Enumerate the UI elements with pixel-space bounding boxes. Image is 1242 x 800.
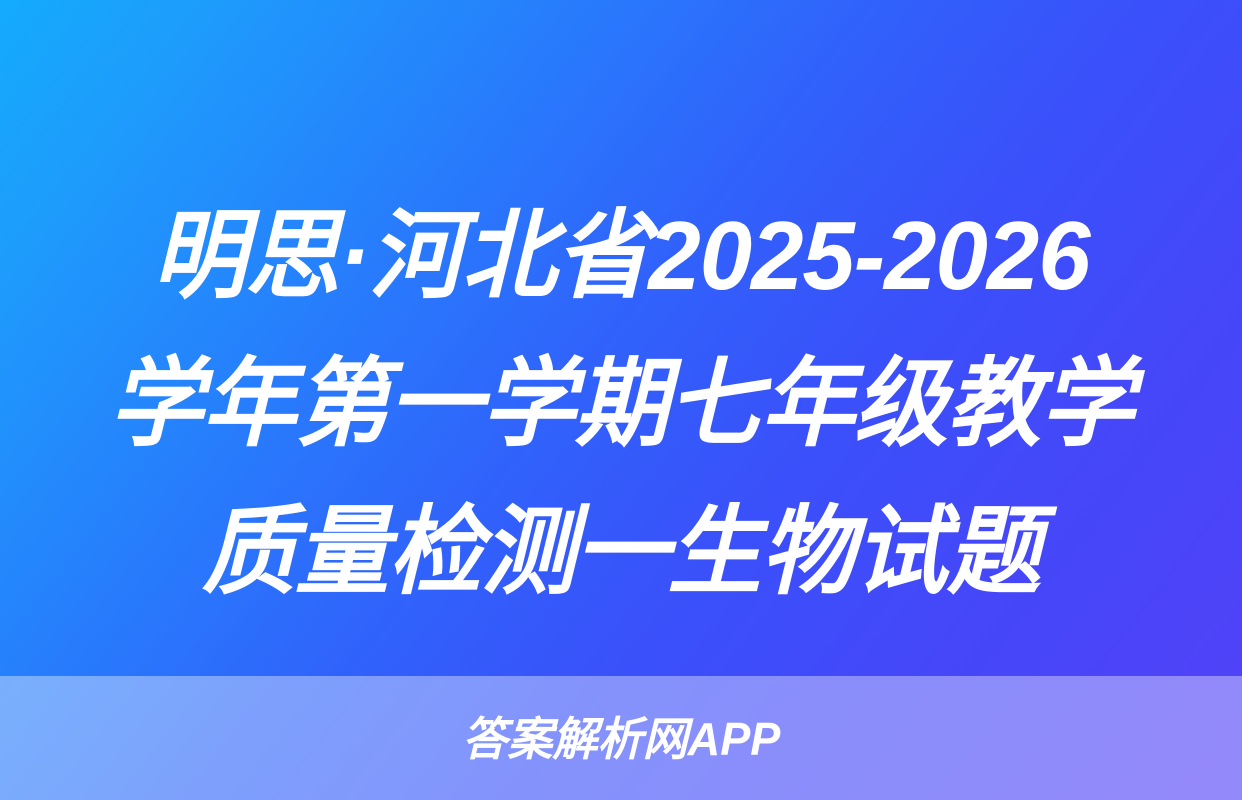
poster-title-block: 明思·河北省2025-2026 学年第一学期七年级教学 质量检测一生物试题 <box>0 182 1242 626</box>
watermark-brand-label: 答案解析网APP <box>462 716 780 762</box>
poster-title-line-3: 质量检测一生物试题 <box>19 478 1224 626</box>
exam-paper-cover-poster: 明思·河北省2025-2026 学年第一学期七年级教学 质量检测一生物试题 答案… <box>0 0 1242 800</box>
poster-title-line-1: 明思·河北省2025-2026 <box>19 182 1224 330</box>
poster-title-line-2: 学年第一学期七年级教学 <box>19 330 1224 478</box>
watermark-band: 答案解析网APP <box>0 676 1242 800</box>
